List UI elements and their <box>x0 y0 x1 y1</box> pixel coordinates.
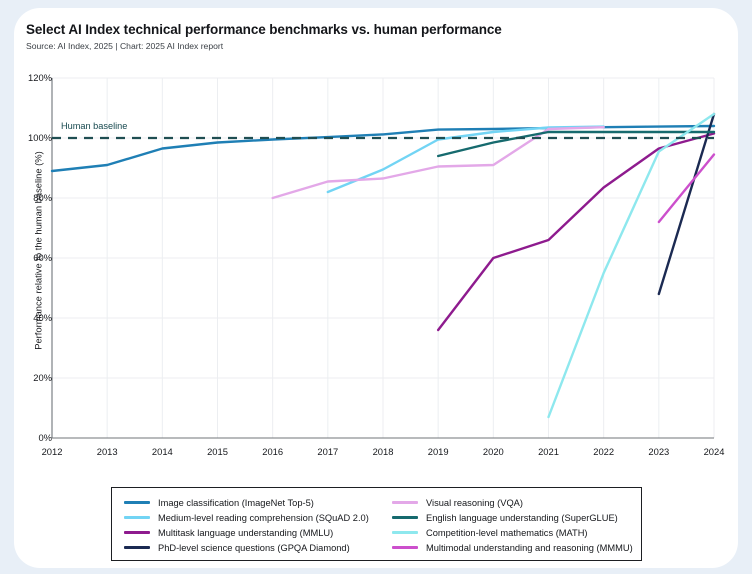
x-axis-tick-label: 2019 <box>428 446 449 457</box>
x-axis-tick-label: 2021 <box>538 446 559 457</box>
y-axis-tick-label: 40% <box>12 312 52 323</box>
x-axis-tick-label: 2016 <box>262 446 283 457</box>
legend-item[interactable]: Visual reasoning (VQA) <box>392 495 633 510</box>
x-axis-tick-label: 2013 <box>97 446 118 457</box>
legend-item-label: Multimodal understanding and reasoning (… <box>426 543 633 553</box>
legend-item[interactable]: English language understanding (SuperGLU… <box>392 510 633 525</box>
y-axis-tick-label: 20% <box>12 372 52 383</box>
series-line <box>438 134 714 331</box>
x-axis-tick-label: 2015 <box>207 446 228 457</box>
x-axis-tick-label: 2014 <box>152 446 173 457</box>
series-line <box>328 127 604 192</box>
x-axis-tick-label: 2018 <box>373 446 394 457</box>
y-axis-tick-label: 60% <box>12 252 52 263</box>
y-axis-tick-label: 100% <box>12 132 52 143</box>
legend-column-left: Image classification (ImageNet Top-5)Med… <box>124 495 369 555</box>
legend-column-right: Visual reasoning (VQA)English language u… <box>392 495 633 555</box>
x-axis-tick-label: 2020 <box>483 446 504 457</box>
legend-item-label: Multitask language understanding (MMLU) <box>158 528 333 538</box>
legend-item-label: Visual reasoning (VQA) <box>426 498 523 508</box>
legend-item-label: Competition-level mathematics (MATH) <box>426 528 588 538</box>
legend-item[interactable]: PhD-level science questions (GPQA Diamon… <box>124 540 369 555</box>
legend-swatch-icon <box>124 516 150 519</box>
x-axis-tick-label: 2023 <box>648 446 669 457</box>
legend-swatch-icon <box>392 546 418 549</box>
series-line <box>549 114 715 417</box>
legend-item[interactable]: Multitask language understanding (MMLU) <box>124 525 369 540</box>
legend-item[interactable]: Competition-level mathematics (MATH) <box>392 525 633 540</box>
legend-item-label: PhD-level science questions (GPQA Diamon… <box>158 543 350 553</box>
y-axis-tick-label: 120% <box>12 72 52 83</box>
legend-item-label: Image classification (ImageNet Top-5) <box>158 498 314 508</box>
chart-legend: Image classification (ImageNet Top-5)Med… <box>111 487 642 561</box>
legend-item[interactable]: Image classification (ImageNet Top-5) <box>124 495 369 510</box>
human-baseline-label: Human baseline <box>61 121 127 131</box>
legend-swatch-icon <box>392 501 418 504</box>
legend-swatch-icon <box>392 516 418 519</box>
x-axis-tick-label: 2017 <box>317 446 338 457</box>
x-axis-tick-label: 2022 <box>593 446 614 457</box>
legend-swatch-icon <box>392 531 418 534</box>
chart-page: Select AI Index technical performance be… <box>0 0 752 574</box>
legend-swatch-icon <box>124 501 150 504</box>
y-axis-tick-label: 0% <box>12 432 52 443</box>
legend-item[interactable]: Multimodal understanding and reasoning (… <box>392 540 633 555</box>
legend-item[interactable]: Medium-level reading comprehension (SQuA… <box>124 510 369 525</box>
series-line <box>659 155 714 223</box>
x-axis-tick-label: 2012 <box>42 446 63 457</box>
x-axis-tick-label: 2024 <box>704 446 725 457</box>
y-axis-ticks: 0%20%40%60%80%100%120% <box>10 0 52 574</box>
legend-swatch-icon <box>124 546 150 549</box>
y-axis-tick-label: 80% <box>12 192 52 203</box>
legend-item-label: English language understanding (SuperGLU… <box>426 513 618 523</box>
legend-item-label: Medium-level reading comprehension (SQuA… <box>158 513 369 523</box>
legend-swatch-icon <box>124 531 150 534</box>
